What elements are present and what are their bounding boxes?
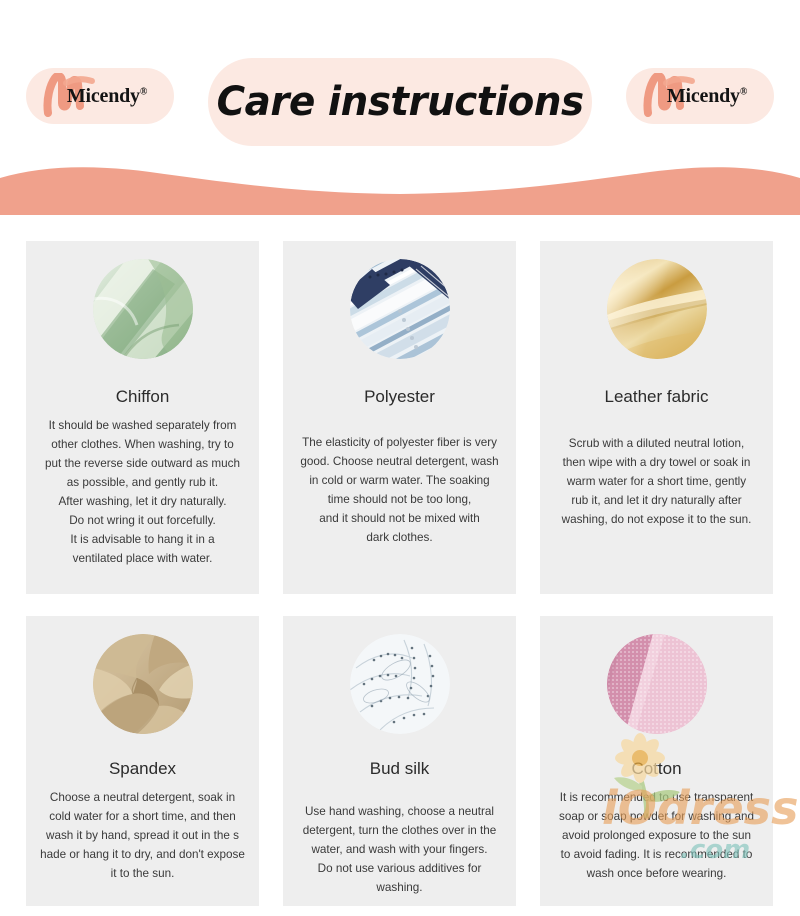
beige-spandex-fabric-swatch bbox=[93, 634, 193, 734]
fabric-card-title: Chiffon bbox=[116, 387, 170, 407]
fabric-care-card-grid: Chiffon It should be washed separately f… bbox=[26, 241, 774, 906]
brand-logo-left: Micendy® bbox=[26, 68, 174, 124]
fabric-card-cotton: Cotton It is recommended to use transpar… bbox=[540, 616, 773, 906]
gold-leather-fabric-swatch bbox=[607, 259, 707, 359]
fabric-card-body: It should be washed separately from othe… bbox=[36, 417, 249, 569]
fabric-card-body: It is recommended to use transparent soa… bbox=[550, 789, 763, 884]
header-wave-divider bbox=[0, 160, 800, 215]
registered-mark-icon: ® bbox=[740, 86, 747, 97]
fabric-card-title: Polyester bbox=[364, 387, 435, 407]
brand-logo-right-label: Micendy® bbox=[653, 85, 747, 108]
fabric-card-title: Leather fabric bbox=[605, 387, 709, 407]
fabric-card-polyester: Polyester The elasticity of polyester fi… bbox=[283, 241, 516, 594]
brand-logo-right: Micendy® bbox=[626, 68, 774, 124]
registered-mark-icon: ® bbox=[140, 86, 147, 97]
fabric-card-title: Bud silk bbox=[370, 759, 430, 779]
fabric-card-leather: Leather fabric Scrub with a diluted neut… bbox=[540, 241, 773, 594]
fabric-card-spandex: Spandex Choose a neutral detergent, soak… bbox=[26, 616, 259, 906]
page-title-pill: Care instructions bbox=[208, 58, 592, 146]
fabric-card-body: Choose a neutral detergent, soak in cold… bbox=[36, 789, 249, 884]
green-chiffon-fabric-swatch bbox=[93, 259, 193, 359]
fabric-card-body: Use hand washing, choose a neutral deter… bbox=[293, 803, 506, 898]
pink-cotton-fabric-swatch bbox=[607, 634, 707, 734]
care-instructions-page: Micendy® Care instructions Micendy® bbox=[0, 0, 800, 916]
fabric-card-title: Spandex bbox=[109, 759, 176, 779]
brand-logo-left-label: Micendy® bbox=[53, 85, 147, 108]
blue-striped-polyester-fabric-swatch bbox=[350, 259, 450, 359]
fabric-card-body: Scrub with a diluted neutral lotion, the… bbox=[550, 435, 763, 530]
fabric-card-title: Cotton bbox=[631, 759, 681, 779]
page-header: Micendy® Care instructions Micendy® bbox=[0, 0, 800, 215]
fabric-card-bud-silk: Bud silk Use hand washing, choose a neut… bbox=[283, 616, 516, 906]
white-lace-bud-silk-fabric-swatch bbox=[350, 634, 450, 734]
fabric-card-body: The elasticity of polyester fiber is ver… bbox=[293, 434, 506, 548]
page-title: Care instructions bbox=[217, 79, 584, 125]
fabric-card-chiffon: Chiffon It should be washed separately f… bbox=[26, 241, 259, 594]
